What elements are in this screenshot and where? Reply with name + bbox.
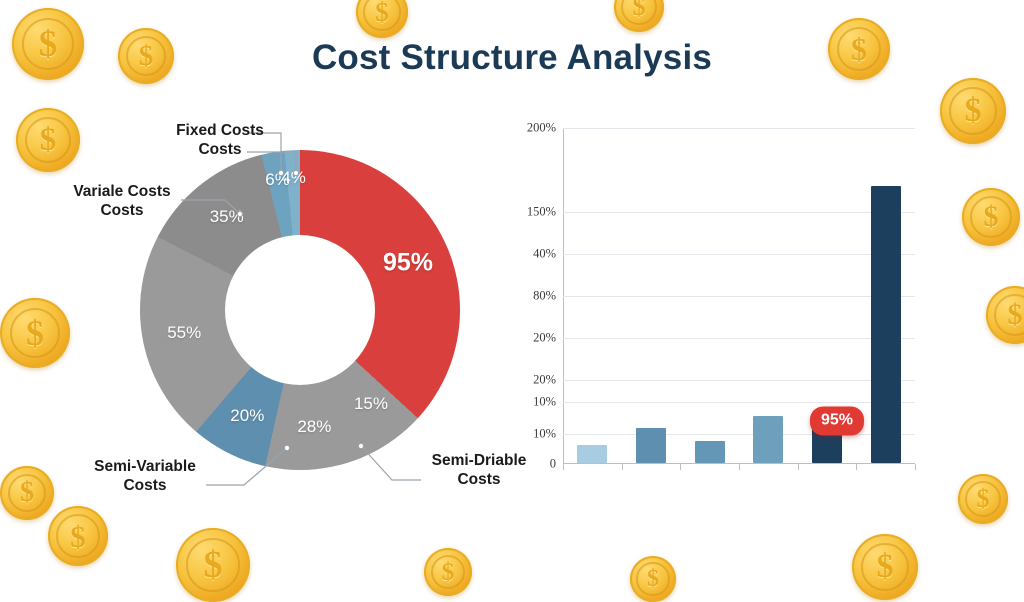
bar-chart-gridline — [563, 128, 915, 129]
callout-fixed-costs: Fixed Costs Costs — [165, 122, 275, 160]
x-axis-tick — [856, 464, 857, 470]
callout-variale-costs: Variale Costs Costs — [62, 183, 182, 221]
bar-chart: 200%150%40%80%20%20%10%10%095% — [505, 120, 925, 492]
gold-coin-icon: $ — [986, 286, 1024, 344]
gold-coin-icon: $ — [0, 298, 70, 368]
bar-chart-gridline — [563, 380, 915, 381]
donut-slice-label-2: 28% — [297, 417, 331, 437]
donut-center-hole — [225, 235, 375, 385]
slide-canvas: $$$$$$$$$$$$$$$$$ Cost Structure Analysi… — [0, 0, 1024, 576]
bar-chart-gridline — [563, 254, 915, 255]
coin-dollar-symbol: $ — [877, 550, 894, 584]
y-axis-tick-label: 200% — [527, 121, 556, 136]
bar-chart-gridline — [563, 212, 915, 213]
coin-dollar-symbol: $ — [977, 486, 990, 512]
donut-slice-label-0: 95% — [383, 248, 433, 277]
gold-coin-icon: $ — [48, 506, 108, 566]
y-axis-tick-label: 20% — [533, 373, 556, 388]
bar-chart-gridline — [563, 434, 915, 435]
page-title: Cost Structure Analysis — [0, 38, 1024, 78]
gold-coin-icon: $ — [614, 0, 664, 32]
bar-chart-gridline — [563, 338, 915, 339]
callout-fixed-costs-line1: Fixed Costs — [176, 122, 264, 139]
coin-dollar-symbol: $ — [647, 567, 659, 591]
y-axis-tick-label: 20% — [533, 331, 556, 346]
bar-value-badge[interactable]: 95% — [810, 407, 864, 436]
bar-chart-bar[interactable] — [753, 416, 783, 463]
callout-semi-variable-costs: Semi-Variable Costs — [85, 458, 205, 496]
x-axis-tick — [798, 464, 799, 470]
y-axis-tick-label: 0 — [550, 457, 556, 472]
gold-coin-icon: $ — [958, 474, 1008, 524]
donut-slice-label-3: 20% — [230, 406, 264, 426]
coin-dollar-symbol: $ — [204, 546, 223, 584]
callout-fixed-costs-line2: Costs — [165, 141, 275, 160]
gold-coin-icon: $ — [16, 108, 80, 172]
gold-coin-icon: $ — [630, 556, 676, 602]
callout-semi-variable-costs-line2: Costs — [85, 477, 205, 496]
gold-coin-icon: $ — [0, 466, 54, 520]
callout-semi-variable-costs-line1: Semi-Variable — [94, 458, 196, 475]
coin-dollar-symbol: $ — [20, 479, 34, 507]
gold-coin-icon: $ — [962, 188, 1020, 246]
donut-slice-label-7: 4% — [281, 168, 306, 188]
y-axis-tick-label: 150% — [527, 205, 556, 220]
x-axis-tick — [680, 464, 681, 470]
y-axis-tick-label: 40% — [533, 247, 556, 262]
coin-dollar-symbol: $ — [965, 94, 982, 128]
x-axis-tick — [739, 464, 740, 470]
bar-chart-gridline — [563, 296, 915, 297]
coin-dollar-symbol: $ — [442, 560, 455, 585]
bar-chart-bar[interactable] — [695, 441, 725, 463]
coin-dollar-symbol: $ — [40, 124, 57, 157]
bar-chart-plot-area: 200%150%40%80%20%20%10%10%095% — [563, 128, 915, 464]
coin-dollar-symbol: $ — [633, 0, 646, 20]
gold-coin-icon: $ — [940, 78, 1006, 144]
donut-slice-label-4: 55% — [167, 323, 201, 343]
coin-dollar-symbol: $ — [375, 0, 389, 26]
donut-slice-label-5: 35% — [210, 207, 244, 227]
donut-chart: 95%15%28%20%55%35%6%4% — [140, 150, 460, 470]
gold-coin-icon: $ — [852, 534, 918, 600]
bar-chart-bar[interactable] — [577, 445, 607, 463]
x-axis-tick — [622, 464, 623, 470]
donut-slice-label-1: 15% — [354, 394, 388, 414]
gold-coin-icon: $ — [356, 0, 408, 38]
callout-variale-costs-line2: Costs — [62, 202, 182, 221]
gold-coin-icon: $ — [424, 548, 472, 596]
coin-dollar-symbol: $ — [984, 202, 999, 232]
coin-dollar-symbol: $ — [1008, 300, 1023, 330]
y-axis-tick-label: 10% — [533, 426, 556, 441]
bar-chart-bar[interactable] — [636, 428, 666, 463]
coin-dollar-symbol: $ — [26, 315, 44, 351]
x-axis-tick — [915, 464, 916, 470]
bar-chart-gridline — [563, 402, 915, 403]
callout-variale-costs-line1: Variale Costs — [73, 183, 170, 200]
y-axis-tick-label: 80% — [533, 289, 556, 304]
x-axis-tick — [563, 464, 564, 470]
y-axis-tick-label: 10% — [533, 394, 556, 409]
coin-dollar-symbol: $ — [70, 521, 86, 552]
gold-coin-icon: $ — [176, 528, 250, 602]
bar-chart-bar[interactable] — [871, 186, 901, 463]
